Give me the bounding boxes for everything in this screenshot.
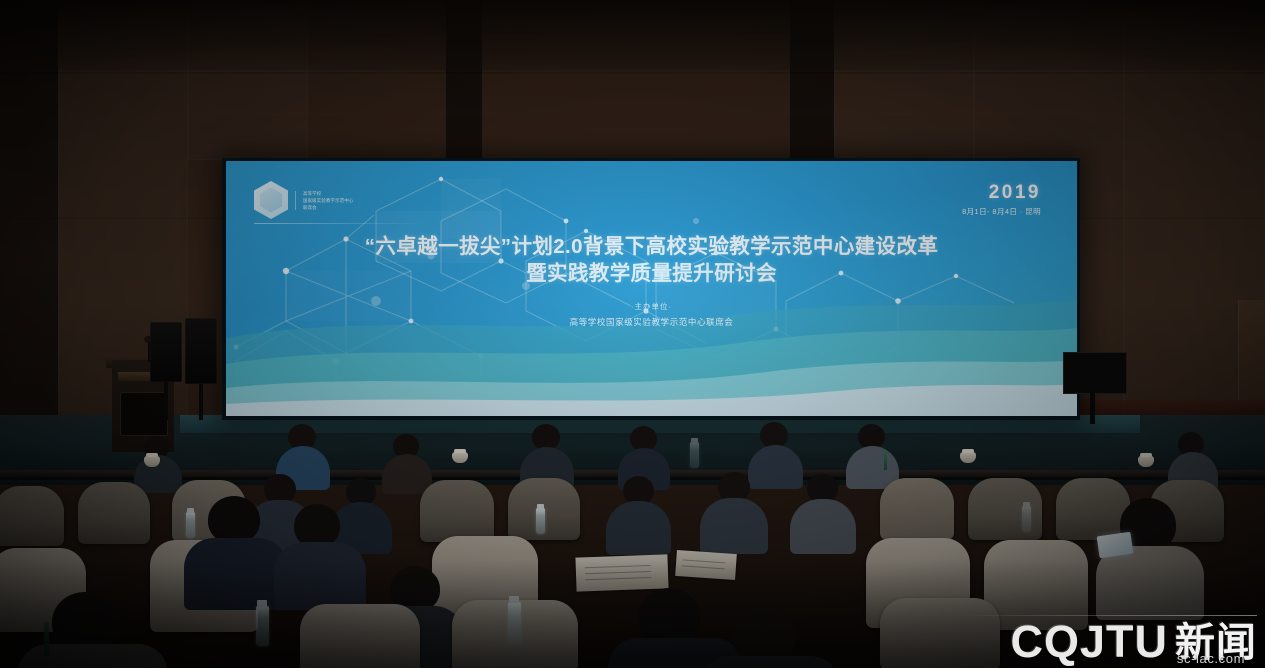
slide-logo-text-line2: 国家级实验教学示范中心 <box>303 198 354 203</box>
watermark-english: CQJTU <box>1010 619 1168 664</box>
slide-logo-text-line1: 高等学校 <box>303 191 354 196</box>
water-bottle <box>536 508 545 534</box>
conference-papers <box>575 554 668 591</box>
slide-logo: 高等学校 国家级实验教学示范中心 联席会 <box>254 181 354 219</box>
loudspeaker <box>150 322 182 382</box>
slide-logo-rule <box>254 223 426 224</box>
slide-logo-text: 高等学校 国家级实验教学示范中心 联席会 <box>295 191 354 210</box>
conference-papers <box>675 550 737 580</box>
slide-date-location: 8月1日- 8月4日 · 昆明 <box>962 206 1041 217</box>
ceiling-shadow <box>0 0 1265 70</box>
conference-hall-screenshot: 高等学校 国家级实验教学示范中心 联席会 2019 8月1日- 8月4日 · 昆… <box>0 0 1265 668</box>
loudspeaker <box>185 318 217 384</box>
water-bottle <box>690 442 699 468</box>
conference-chair <box>420 480 494 542</box>
conference-chair <box>78 482 150 544</box>
water-bottle <box>256 606 269 646</box>
water-bottle <box>508 602 521 644</box>
stage-monitor <box>1063 352 1127 394</box>
slide-title-line2: 暨实践教学质量提升研讨会 <box>226 260 1077 287</box>
led-screen: 高等学校 国家级实验教学示范中心 联席会 2019 8月1日- 8月4日 · 昆… <box>226 161 1077 416</box>
slide-host-block: ·主办单位· 高等学校国家级实验教学示范中心联席会 <box>226 301 1077 328</box>
conference-chair <box>300 604 420 668</box>
slide-year: 2019 <box>962 183 1041 203</box>
water-bottle <box>186 512 195 538</box>
conference-chair <box>880 598 1000 668</box>
name-badge <box>44 622 49 656</box>
watermark: CQJTU 新闻 sc-lac.com <box>1010 619 1257 664</box>
slide-date-block: 2019 8月1日- 8月4日 · 昆明 <box>962 183 1041 217</box>
slide-host-label: ·主办单位· <box>226 301 1077 312</box>
stage-monitor-stand <box>1090 392 1095 424</box>
slide-logo-text-line3: 联席会 <box>303 205 354 210</box>
slide-title-line1: “六卓越一拔尖”计划2.0背景下高校实验教学示范中心建设改革 <box>365 235 939 258</box>
hexagon-logo-icon <box>254 181 288 219</box>
water-bottle <box>1022 506 1031 532</box>
name-badge <box>884 450 887 470</box>
tablet-device <box>1097 532 1134 559</box>
slide-title: “六卓越一拔尖”计划2.0背景下高校实验教学示范中心建设改革 暨实践教学质量提升… <box>226 233 1077 288</box>
podium-monitor <box>120 392 168 436</box>
conference-chair <box>1056 478 1130 540</box>
slide-wave-decoration <box>226 276 1077 416</box>
conference-chair <box>0 486 64 546</box>
watermark-url: sc-lac.com <box>1177 651 1245 666</box>
speaker-stand <box>164 382 168 420</box>
slide-host-name: 高等学校国家级实验教学示范中心联席会 <box>226 316 1077 328</box>
speaker-stand <box>199 384 203 420</box>
conference-chair <box>880 478 954 540</box>
wall-seam <box>0 72 1265 74</box>
